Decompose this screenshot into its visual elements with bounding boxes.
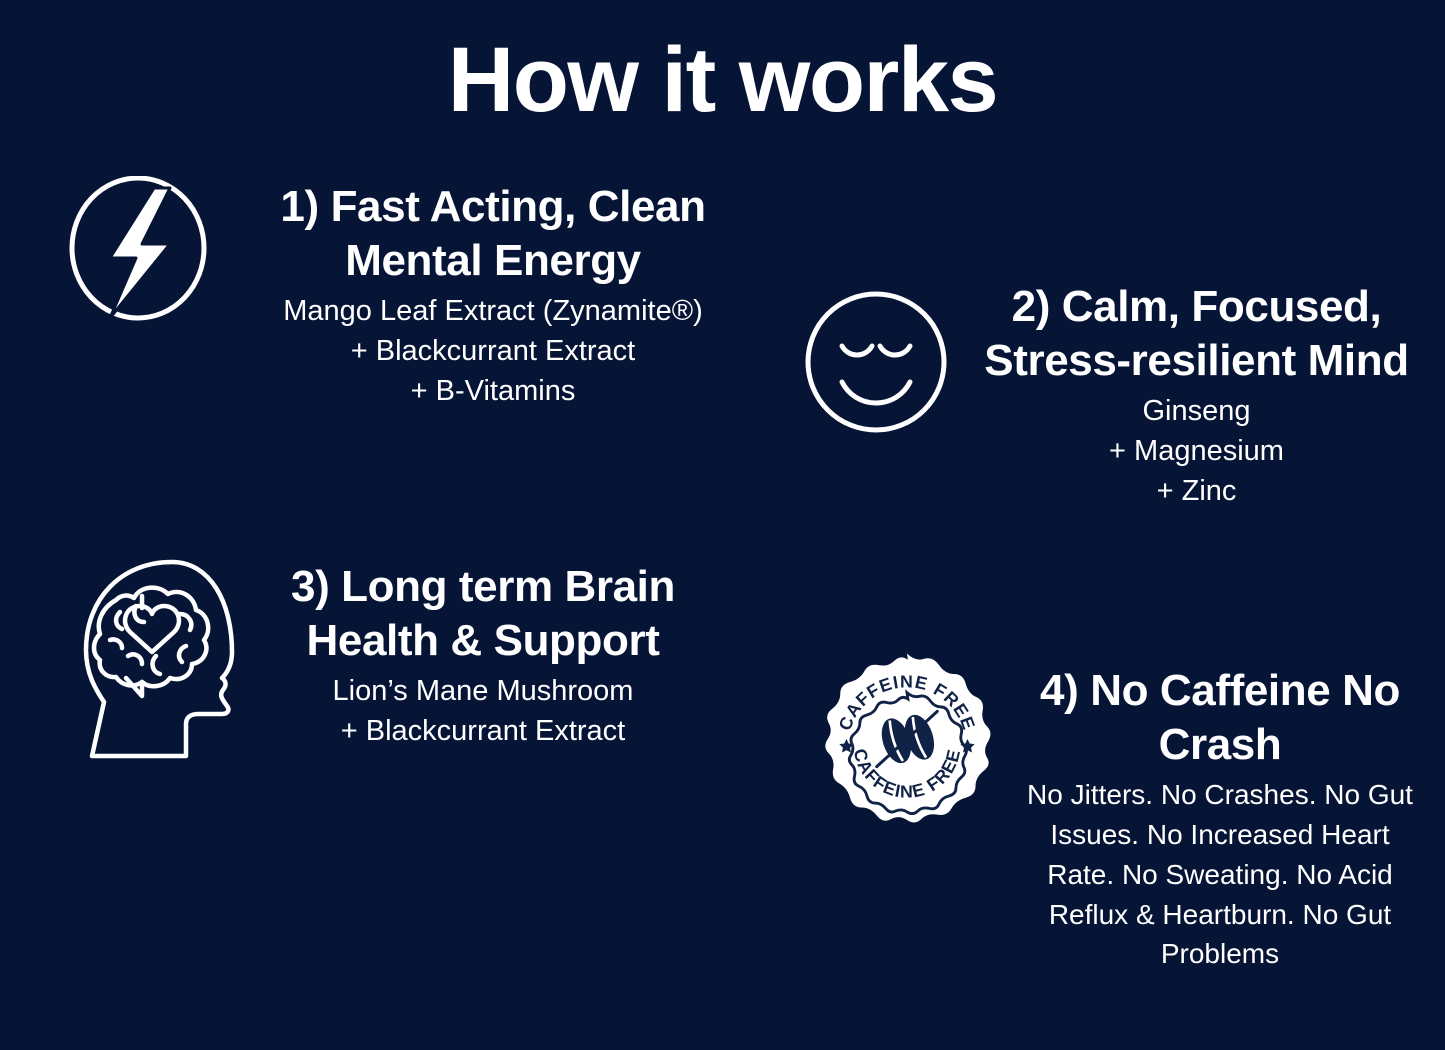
lightning-bolt-icon	[66, 176, 216, 326]
feature-3-heading-line-1: 3) Long term	[291, 562, 553, 611]
brain-head-icon	[76, 556, 256, 771]
feature-1-ingredient-1: Mango Leaf Extract (Zynamite®)	[230, 291, 756, 331]
feature-2-heading: 2) Calm, Focused, Stress-resilient Mind	[968, 280, 1425, 387]
page-title: How it works	[0, 32, 1445, 129]
feature-2-ingredient-3: + Zinc	[968, 471, 1425, 511]
feature-1-ingredient-3: + B-Vitamins	[230, 371, 756, 411]
feature-1-ingredients: Mango Leaf Extract (Zynamite®) + Blackcu…	[230, 291, 756, 411]
feature-2-heading-line-2: Stress-resilient	[984, 336, 1296, 385]
feature-3-ingredient-1: Lion’s Mane Mushroom	[280, 671, 686, 711]
feature-2-copy: 2) Calm, Focused, Stress-resilient Mind …	[952, 280, 1425, 511]
feature-3-ingredients: Lion’s Mane Mushroom + Blackcurrant Extr…	[280, 671, 686, 751]
feature-4-benefit-4: Reflux & Heartburn. No Gut	[1010, 895, 1430, 935]
feature-1-heading-line-1: 1) Fast Acting, Clean	[280, 182, 705, 231]
feature-4-heading: 4) No Caffeine No Crash	[1010, 664, 1430, 771]
feature-2-ingredients: Ginseng + Magnesium + Zinc	[968, 391, 1425, 511]
feature-block-3: 3) Long term Brain Health & Support Lion…	[76, 548, 686, 771]
feature-4-heading-line-1: 4) No Caffeine	[1040, 666, 1330, 715]
feature-4-benefit-3: Rate. No Sweating. No Acid	[1010, 855, 1430, 895]
smiley-face-icon	[800, 286, 952, 438]
feature-1-heading: 1) Fast Acting, Clean Mental Energy	[230, 180, 756, 287]
caffeine-free-badge-icon: CAFFEINE FREE CAFFEINE FREE	[818, 650, 996, 828]
feature-3-heading-line-3: Support	[494, 616, 660, 665]
feature-4-benefit-5: Problems	[1010, 934, 1430, 974]
infographic-page: How it works 1) Fast Acting, Clean Menta…	[0, 0, 1445, 1050]
feature-4-benefit-2: Issues. No Increased Heart	[1010, 815, 1430, 855]
feature-1-ingredient-2: + Blackcurrant Extract	[230, 331, 756, 371]
feature-2-heading-line-3: Mind	[1308, 336, 1409, 385]
feature-2-ingredient-2: + Magnesium	[968, 431, 1425, 471]
feature-block-4: CAFFEINE FREE CAFFEINE FREE	[818, 636, 1430, 974]
feature-2-ingredient-1: Ginseng	[968, 391, 1425, 431]
feature-3-copy: 3) Long term Brain Health & Support Lion…	[256, 560, 686, 751]
feature-3-heading: 3) Long term Brain Health & Support	[280, 560, 686, 667]
feature-3-ingredient-2: + Blackcurrant Extract	[280, 711, 686, 751]
feature-1-heading-line-2: Mental Energy	[345, 236, 641, 285]
feature-4-benefit-1: No Jitters. No Crashes. No Gut	[1010, 775, 1430, 815]
feature-4-copy: 4) No Caffeine No Crash No Jitters. No C…	[996, 664, 1430, 974]
feature-4-benefits: No Jitters. No Crashes. No Gut Issues. N…	[1010, 775, 1430, 974]
feature-1-copy: 1) Fast Acting, Clean Mental Energy Mang…	[216, 180, 756, 411]
feature-2-heading-line-1: 2) Calm, Focused,	[1012, 282, 1382, 331]
feature-block-2: 2) Calm, Focused, Stress-resilient Mind …	[800, 280, 1425, 511]
feature-block-1: 1) Fast Acting, Clean Mental Energy Mang…	[66, 172, 756, 411]
